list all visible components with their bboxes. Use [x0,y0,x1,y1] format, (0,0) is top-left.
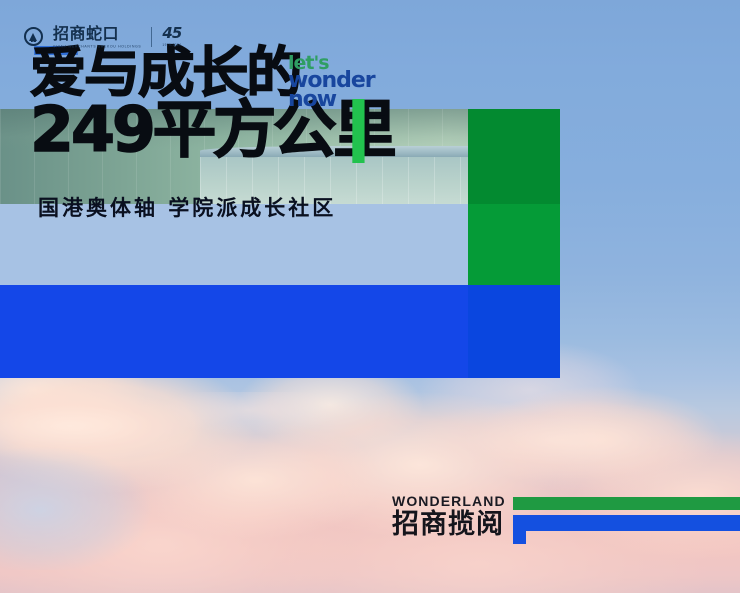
developer-name-en: CHINA MERCHANTS SHEKOU HOLDINGS [53,45,141,49]
english-slogan: let's wonder now [288,55,375,110]
project-name-en: WONDERLAND [392,494,506,508]
logo-divider [151,27,152,47]
developer-logo-text: 招商蛇口 CHINA MERCHANTS SHEKOU HOLDINGS [53,26,141,48]
blue-block [468,285,560,378]
anniversary-number: 45 [162,26,181,41]
anniversary-badge: 45 1979-2024 [162,26,181,47]
brand-bar-blue [514,515,740,531]
subtitle: 国港奥体轴 学院派成长社区 [38,192,336,222]
developer-logo: 招商蛇口 CHINA MERCHANTS SHEKOU HOLDINGS 45 … [24,26,181,48]
developer-name-cn: 招商蛇口 [53,26,141,42]
china-merchants-mark-icon [24,27,43,46]
green-block-dark [468,109,560,204]
brand-bar-green [514,497,740,510]
anniversary-years: 1979-2024 [162,43,181,47]
project-brand-lockup: WONDERLAND 招商揽阅 [392,494,740,539]
brand-bar-cap [513,497,526,544]
cloud-haze-left [0,430,210,570]
slogan-now: now [288,91,375,110]
marketing-poster: 招商蛇口 CHINA MERCHANTS SHEKOU HOLDINGS 45 … [0,0,740,593]
project-name-cn: 招商揽阅 [392,511,506,539]
brand-bar-graphic [514,497,740,531]
project-brand-text: WONDERLAND 招商揽阅 [392,494,506,539]
